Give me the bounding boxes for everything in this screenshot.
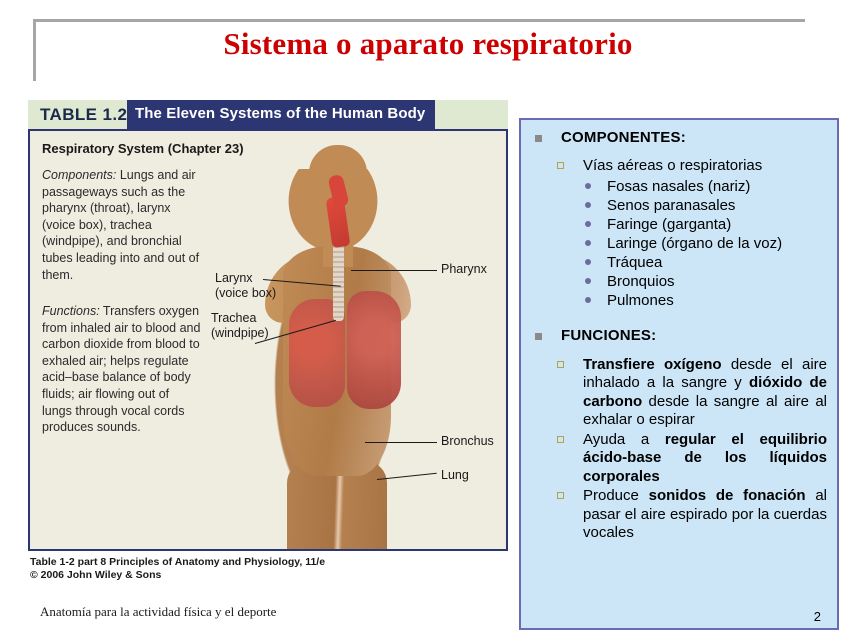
vias-aereas-item: Vías aéreas o respiratorias [521, 157, 837, 176]
vias-list-item: Tráquea [521, 253, 837, 272]
label-trachea-line2: (windpipe) [211, 326, 269, 341]
funciones-list-item: Transfiere oxígeno desde el aire inhalad… [521, 356, 837, 430]
functions-label: Functions: [42, 304, 100, 318]
vias-list-item-label: Bronquios [607, 273, 675, 290]
functions-text: Transfers oxygen from inhaled air to blo… [42, 304, 200, 434]
footer-text: Anatomía para la actividad física y el d… [40, 604, 276, 620]
square-bullet-icon [535, 333, 542, 340]
componentes-heading-label: COMPONENTES: [561, 129, 686, 146]
vias-list-item-label: Laringe (órgano de la voz) [607, 235, 782, 252]
figure-body: Respiratory System (Chapter 23) Componen… [28, 129, 508, 551]
dot-bullet-icon [585, 202, 591, 208]
label-lung: Lung [441, 468, 469, 483]
vias-aereas-list: Fosas nasales (nariz)Senos paranasalesFa… [521, 177, 837, 310]
vias-list-item-label: Tráquea [607, 254, 662, 271]
content-panel: COMPONENTES: Vías aéreas o respiratorias… [519, 118, 839, 630]
label-trachea-line1: Trachea [211, 311, 256, 326]
textbook-figure: TABLE 1.2 The Eleven Systems of the Huma… [28, 100, 508, 590]
trachea-shape [333, 243, 344, 321]
funciones-heading: FUNCIONES: [521, 327, 837, 344]
funciones-list: Transfiere oxígeno desde el aire inhalad… [521, 356, 837, 543]
vias-list-item: Faringe (garganta) [521, 215, 837, 234]
hollow-square-bullet-icon [557, 492, 564, 499]
dot-bullet-icon [585, 183, 591, 189]
vias-list-item: Bronquios [521, 272, 837, 291]
lung-right-shape [347, 291, 401, 409]
vias-list-item-label: Senos paranasales [607, 197, 735, 214]
componentes-heading: COMPONENTES: [521, 129, 837, 146]
label-pharynx: Pharynx [441, 262, 487, 277]
figure-header-band: TABLE 1.2 The Eleven Systems of the Huma… [28, 100, 508, 129]
label-bronchus: Bronchus [441, 434, 494, 449]
components-label: Components: [42, 168, 116, 182]
funciones-emphasis-text: Transfiere oxígeno [583, 356, 722, 373]
dot-bullet-icon [585, 297, 591, 303]
figure-source-caption: Table 1-2 part 8 Principles of Anatomy a… [30, 556, 325, 582]
bronchus-leader-line [365, 442, 437, 443]
page-title: Sistema o aparato respiratorio [33, 26, 823, 62]
respiratory-system-illustration: Pharynx Larynx (voice box) Trachea (wind… [205, 131, 505, 549]
funciones-emphasis-text: sonidos de fonación [649, 487, 806, 504]
functions-paragraph: Functions: Transfers oxygen from inhaled… [42, 303, 202, 436]
source-line-2: © 2006 John Wiley & Sons [30, 569, 325, 582]
hollow-square-bullet-icon [557, 361, 564, 368]
componentes-section: COMPONENTES: Vías aéreas o respiratorias… [521, 120, 837, 310]
funciones-list-item: Produce sonidos de fonación al pasar el … [521, 487, 837, 543]
funciones-heading-label: FUNCIONES: [561, 327, 656, 344]
vias-aereas-label: Vías aéreas o respiratorias [583, 157, 762, 174]
vias-list-item: Laringe (órgano de la voz) [521, 234, 837, 253]
funciones-text: Ayuda a [583, 431, 665, 448]
dot-bullet-icon [585, 221, 591, 227]
pharynx-leader-line [351, 270, 437, 271]
vias-list-item: Pulmones [521, 291, 837, 310]
source-line-1: Table 1-2 part 8 Principles of Anatomy a… [30, 556, 325, 569]
dot-bullet-icon [585, 240, 591, 246]
table-caption-band: The Eleven Systems of the Human Body [127, 100, 435, 129]
dot-bullet-icon [585, 259, 591, 265]
funciones-list-item: Ayuda a regular el equilibrio ácido-base… [521, 431, 837, 487]
slide-number: 2 [814, 609, 821, 624]
hollow-square-bullet-icon [557, 436, 564, 443]
components-paragraph: Components: Lungs and air passageways su… [42, 167, 202, 283]
vias-list-item: Fosas nasales (nariz) [521, 177, 837, 196]
dot-bullet-icon [585, 278, 591, 284]
vias-list-item-label: Fosas nasales (nariz) [607, 178, 750, 195]
vias-list-item-label: Pulmones [607, 292, 674, 309]
table-caption-label: The Eleven Systems of the Human Body [135, 105, 425, 122]
square-bullet-icon [535, 135, 542, 142]
vias-list-item-label: Faringe (garganta) [607, 216, 731, 233]
funciones-text: Produce [583, 487, 649, 504]
label-larynx-line2: (voice box) [215, 286, 276, 301]
label-larynx-line1: Larynx [215, 271, 253, 286]
vias-list-item: Senos paranasales [521, 196, 837, 215]
table-number-label: TABLE 1.2 [40, 105, 127, 125]
hollow-square-bullet-icon [557, 162, 564, 169]
components-text: Lungs and air passageways such as the ph… [42, 168, 199, 282]
